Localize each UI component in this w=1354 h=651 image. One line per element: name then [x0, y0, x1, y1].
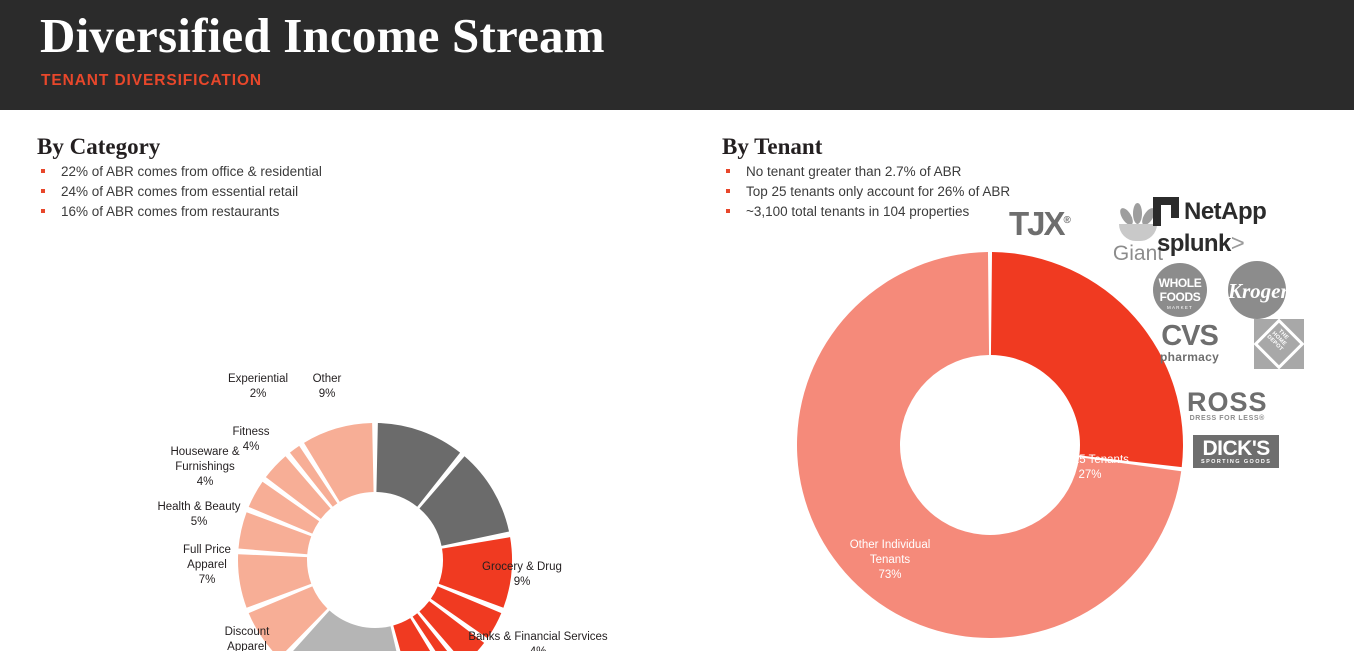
netapp-logo: NetApp	[1153, 197, 1266, 226]
splunk-logo-text: splunk	[1157, 230, 1231, 257]
slice-label-group: Banks & Financial Services4%	[468, 631, 608, 651]
splunk-chevron-icon: >	[1231, 230, 1244, 257]
whole-foods-line3: MARKET	[1153, 305, 1207, 310]
dicks-logo: DICK'S SPORTING GOODS	[1193, 435, 1279, 468]
slice-label-value: 11%	[421, 406, 443, 418]
slice-label-value: 11%	[507, 476, 529, 488]
dicks-tagline-text: SPORTING GOODS	[1201, 459, 1271, 465]
slice-label-name: Discount	[225, 626, 271, 638]
slice-label-name: Full Price	[183, 544, 231, 556]
tenant-logo-cloud: TJX® Giant NetApp splunk> WHOLE FOODS MA…	[1005, 195, 1350, 470]
tjx-logo-text: TJX	[1009, 205, 1064, 242]
slice-label-value: 4%	[530, 646, 547, 651]
tjx-logo: TJX®	[1009, 205, 1071, 243]
slice-label-group: Office11%	[503, 461, 533, 488]
cvs-logo-text: CVS	[1160, 323, 1219, 350]
slice-label-value: 27%	[1078, 469, 1101, 481]
cvs-pharmacy-text: pharmacy	[1160, 350, 1219, 364]
splunk-logo: splunk>	[1157, 230, 1244, 258]
page-title: Diversified Income Stream	[40, 6, 605, 66]
slice-label-value: 9%	[319, 388, 336, 400]
slice-label-value: 9%	[514, 576, 531, 588]
slice-label-name: Banks & Financial Services	[468, 631, 608, 643]
by-tenant-panel: By Tenant No tenant greater than 2.7% of…	[700, 110, 1354, 651]
ross-tagline-text: DRESS FOR LESS®	[1187, 415, 1268, 422]
giant-bowl-icon	[1119, 224, 1157, 241]
slice-label-name: Fitness	[232, 426, 269, 438]
page-subtitle: TENANT DIVERSIFICATION	[41, 72, 262, 90]
netapp-logo-text: NetApp	[1184, 198, 1266, 226]
slice-label-name: Furnishings	[175, 461, 235, 473]
page-header: Diversified Income Stream TENANT DIVERSI…	[0, 0, 1354, 110]
whole-foods-logo: WHOLE FOODS MARKET	[1153, 263, 1207, 317]
ross-logo: ROSS DRESS FOR LESS®	[1187, 390, 1268, 422]
slice-label-name: Other Individual	[850, 539, 931, 551]
slice-label-name: Apparel	[187, 559, 227, 571]
dicks-logo-text: DICK'S	[1201, 439, 1271, 459]
slice-label-name: Experiential	[228, 373, 288, 385]
slice-label-group: Health & Beauty5%	[157, 501, 240, 528]
giant-leaf-center-icon	[1133, 203, 1142, 224]
slice-label-name: Tenants	[870, 554, 911, 566]
slice-label-name: Houseware &	[170, 446, 239, 458]
cvs-logo: CVS pharmacy	[1160, 323, 1219, 364]
slice-label-name: Other	[313, 373, 342, 385]
category-donut-chart: Residential11%Office11%Grocery & Drug9%B…	[0, 110, 700, 651]
slice-label-value: 73%	[878, 569, 901, 581]
slice-label-value: 2%	[250, 388, 267, 400]
slice-label-group: Other9%	[313, 373, 342, 400]
tjx-trademark-icon: ®	[1064, 215, 1071, 226]
slice-label-name: Residential	[404, 391, 461, 403]
slice-label-name: Apparel	[227, 641, 267, 651]
slice-label-group: Houseware &Furnishings4%	[170, 446, 239, 488]
netapp-mark-icon	[1153, 197, 1179, 226]
slice-label-value: 4%	[243, 441, 260, 453]
slice-label-group: Residential11%	[404, 391, 461, 418]
slice-label-value: 4%	[197, 476, 214, 488]
whole-foods-line1: WHOLE	[1153, 276, 1207, 290]
ross-logo-text: ROSS	[1187, 390, 1268, 415]
kroger-logo: Kroger	[1228, 261, 1286, 319]
slice-label-value: 7%	[199, 574, 216, 586]
kroger-logo-text: Kroger	[1228, 279, 1286, 304]
category-donut-svg: Residential11%Office11%Grocery & Drug9%B…	[0, 110, 700, 651]
slice-label-name: Grocery & Drug	[482, 561, 562, 573]
whole-foods-line2: FOODS	[1153, 290, 1207, 304]
by-category-panel: By Category 22% of ABR comes from office…	[0, 110, 700, 651]
slice-label-group: Full PriceApparel7%	[183, 544, 231, 586]
slice-label-value: 5%	[191, 516, 208, 528]
slice-label-group: Experiential2%	[228, 373, 288, 400]
slice-label-name: Health & Beauty	[157, 501, 240, 513]
home-depot-logo: THE HOME DEPOT	[1254, 319, 1304, 369]
slice-label-name: Office	[503, 461, 533, 473]
